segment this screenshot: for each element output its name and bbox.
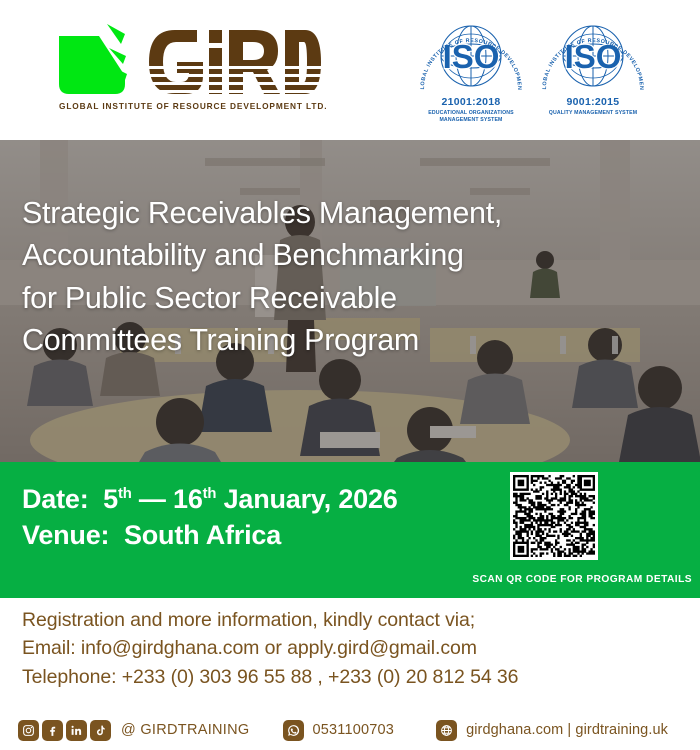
qr-code-wrapper[interactable] xyxy=(510,472,598,560)
linkedin-icon[interactable] xyxy=(66,720,87,741)
date-range-dash: — xyxy=(139,484,166,514)
venue-value: South Africa xyxy=(124,520,281,550)
social-handle[interactable]: @ GIRDTRAINING xyxy=(121,722,249,738)
qr-code[interactable] xyxy=(510,472,598,560)
qr-caption: SCAN QR CODE FOR PROGRAM DETAILS xyxy=(472,574,692,585)
logo-row xyxy=(55,22,321,98)
date-start-suffix: th xyxy=(118,486,132,502)
whatsapp-number[interactable]: 0531100703 xyxy=(312,722,394,738)
contact-line-telephone[interactable]: Telephone: +233 (0) 303 96 55 88 , +233 … xyxy=(22,663,518,691)
facebook-icon[interactable] xyxy=(42,720,63,741)
event-date-line: Date: 5th — 16th January, 2026 xyxy=(22,482,398,518)
logo-tagline: GLOBAL INSTITUTE OF RESOURCE DEVELOPMENT… xyxy=(59,101,327,111)
date-start-day: 5 xyxy=(103,484,118,514)
gird-wordmark xyxy=(139,26,321,98)
tiktok-icon[interactable] xyxy=(90,720,111,741)
iso-description-9001: QUALITY MANAGEMENT SYSTEM xyxy=(534,110,652,117)
title-line-2: Accountability and Benchmarking xyxy=(22,234,670,276)
event-details-band: Date: 5th — 16th January, 2026 Venue: So… xyxy=(0,462,700,598)
contact-line-email[interactable]: Email: info@girdghana.com or apply.gird@… xyxy=(22,634,518,662)
website-urls[interactable]: girdghana.com | girdtraining.uk xyxy=(466,722,668,738)
iso-badge-21001: ISO GLOBAL INSTITUTE OF RESOURCE DEVELOP… xyxy=(412,22,530,134)
iso-certifications: ISO GLOBAL INSTITUTE OF RESOURCE DEVELOP… xyxy=(412,22,652,134)
iso-description-21001: EDUCATIONAL ORGANIZATIONS MANAGEMENT SYS… xyxy=(412,110,530,123)
iso-desc-line1: QUALITY MANAGEMENT SYSTEM xyxy=(549,110,637,116)
social-icon-group xyxy=(18,720,111,741)
contact-line-intro: Registration and more information, kindl… xyxy=(22,606,518,634)
page-title: Strategic Receivables Management, Accoun… xyxy=(22,192,670,362)
header: GLOBAL INSTITUTE OF RESOURCE DEVELOPMENT… xyxy=(0,0,700,140)
date-month-year: January, 2026 xyxy=(224,484,398,514)
hero-section: Strategic Receivables Management, Accoun… xyxy=(0,140,700,462)
whatsapp-icon[interactable] xyxy=(283,720,304,741)
contact-information: Registration and more information, kindl… xyxy=(22,606,518,691)
title-line-1: Strategic Receivables Management, xyxy=(22,192,670,234)
venue-label: Venue: xyxy=(22,520,109,550)
iso-badge-9001: ISO GLOBAL INSTITUTE OF RESOURCE DEVELOP… xyxy=(534,22,652,134)
instagram-icon[interactable] xyxy=(18,720,39,741)
event-venue-line: Venue: South Africa xyxy=(22,518,398,554)
iso-code-9001: 9001:2015 xyxy=(534,96,652,109)
date-end-day: 16 xyxy=(173,484,203,514)
date-label: Date: xyxy=(22,484,89,514)
iso-desc-line2: MANAGEMENT SYSTEM xyxy=(439,117,502,123)
whatsapp-group[interactable]: 0531100703 xyxy=(283,720,394,741)
event-details: Date: 5th — 16th January, 2026 Venue: So… xyxy=(22,482,398,553)
globe-icon[interactable] xyxy=(436,720,457,741)
iso-desc-line1: EDUCATIONAL ORGANIZATIONS xyxy=(428,110,514,116)
title-line-3: for Public Sector Receivable xyxy=(22,277,670,319)
website-group[interactable]: girdghana.com | girdtraining.uk xyxy=(436,720,668,741)
date-end-suffix: th xyxy=(203,486,217,502)
brand-logo: GLOBAL INSTITUTE OF RESOURCE DEVELOPMENT… xyxy=(55,22,327,111)
footer-social-bar: @ GIRDTRAINING 0531100703 girdghana.com … xyxy=(0,710,700,750)
iso-code-21001: 21001:2018 xyxy=(412,96,530,109)
leaf-mark-icon xyxy=(55,22,133,98)
title-line-4: Committees Training Program xyxy=(22,319,670,361)
